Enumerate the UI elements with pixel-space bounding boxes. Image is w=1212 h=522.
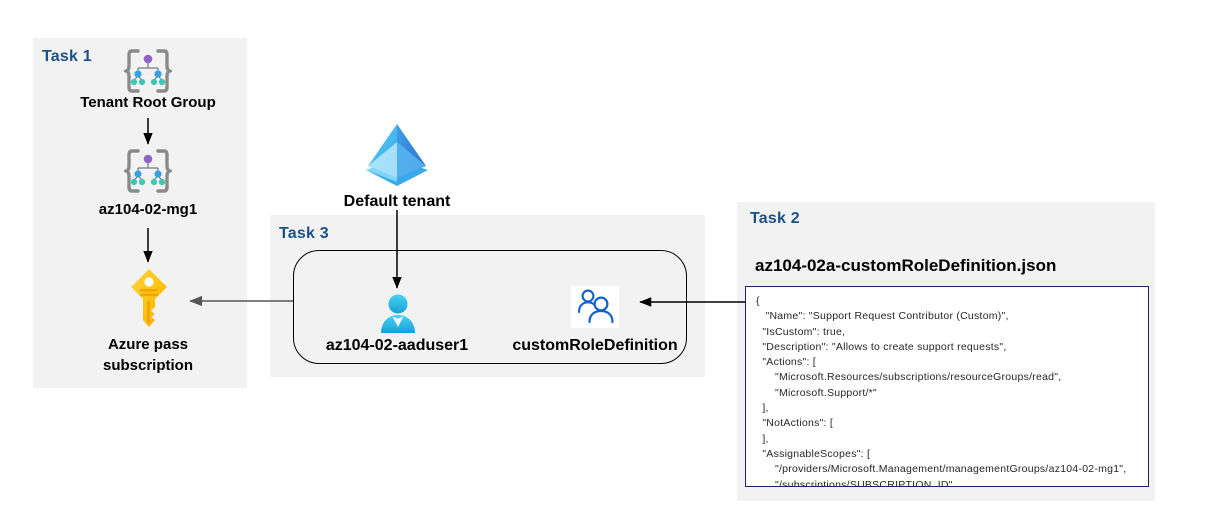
tenant-root-group-label: Tenant Root Group	[48, 92, 248, 113]
aaduser1-label: az104-02-aaduser1	[297, 335, 497, 356]
mg1-label: az104-02-mg1	[48, 199, 248, 220]
azure-active-directory-icon	[360, 120, 434, 192]
azure-pass-subscription-label: Azure pass subscription	[48, 334, 248, 376]
task1-label: Task 1	[42, 48, 92, 66]
management-group-icon	[124, 148, 172, 194]
user-icon	[376, 292, 420, 336]
management-group-icon	[124, 48, 172, 94]
json-filename-label: az104-02a-customRoleDefinition.json	[755, 256, 1056, 276]
diagram-canvas: Task 1 Task 3 Task 2	[0, 0, 1212, 522]
key-icon	[126, 267, 172, 329]
role-definition-icon	[571, 286, 619, 328]
default-tenant-label: Default tenant	[307, 191, 487, 212]
task3-label: Task 3	[279, 225, 329, 243]
json-content-text: { "Name": "Support Request Contributor (…	[756, 294, 1126, 487]
customroledefinition-label: customRoleDefinition	[495, 335, 695, 356]
task2-label: Task 2	[750, 210, 800, 228]
json-content-box: { "Name": "Support Request Contributor (…	[745, 286, 1149, 487]
